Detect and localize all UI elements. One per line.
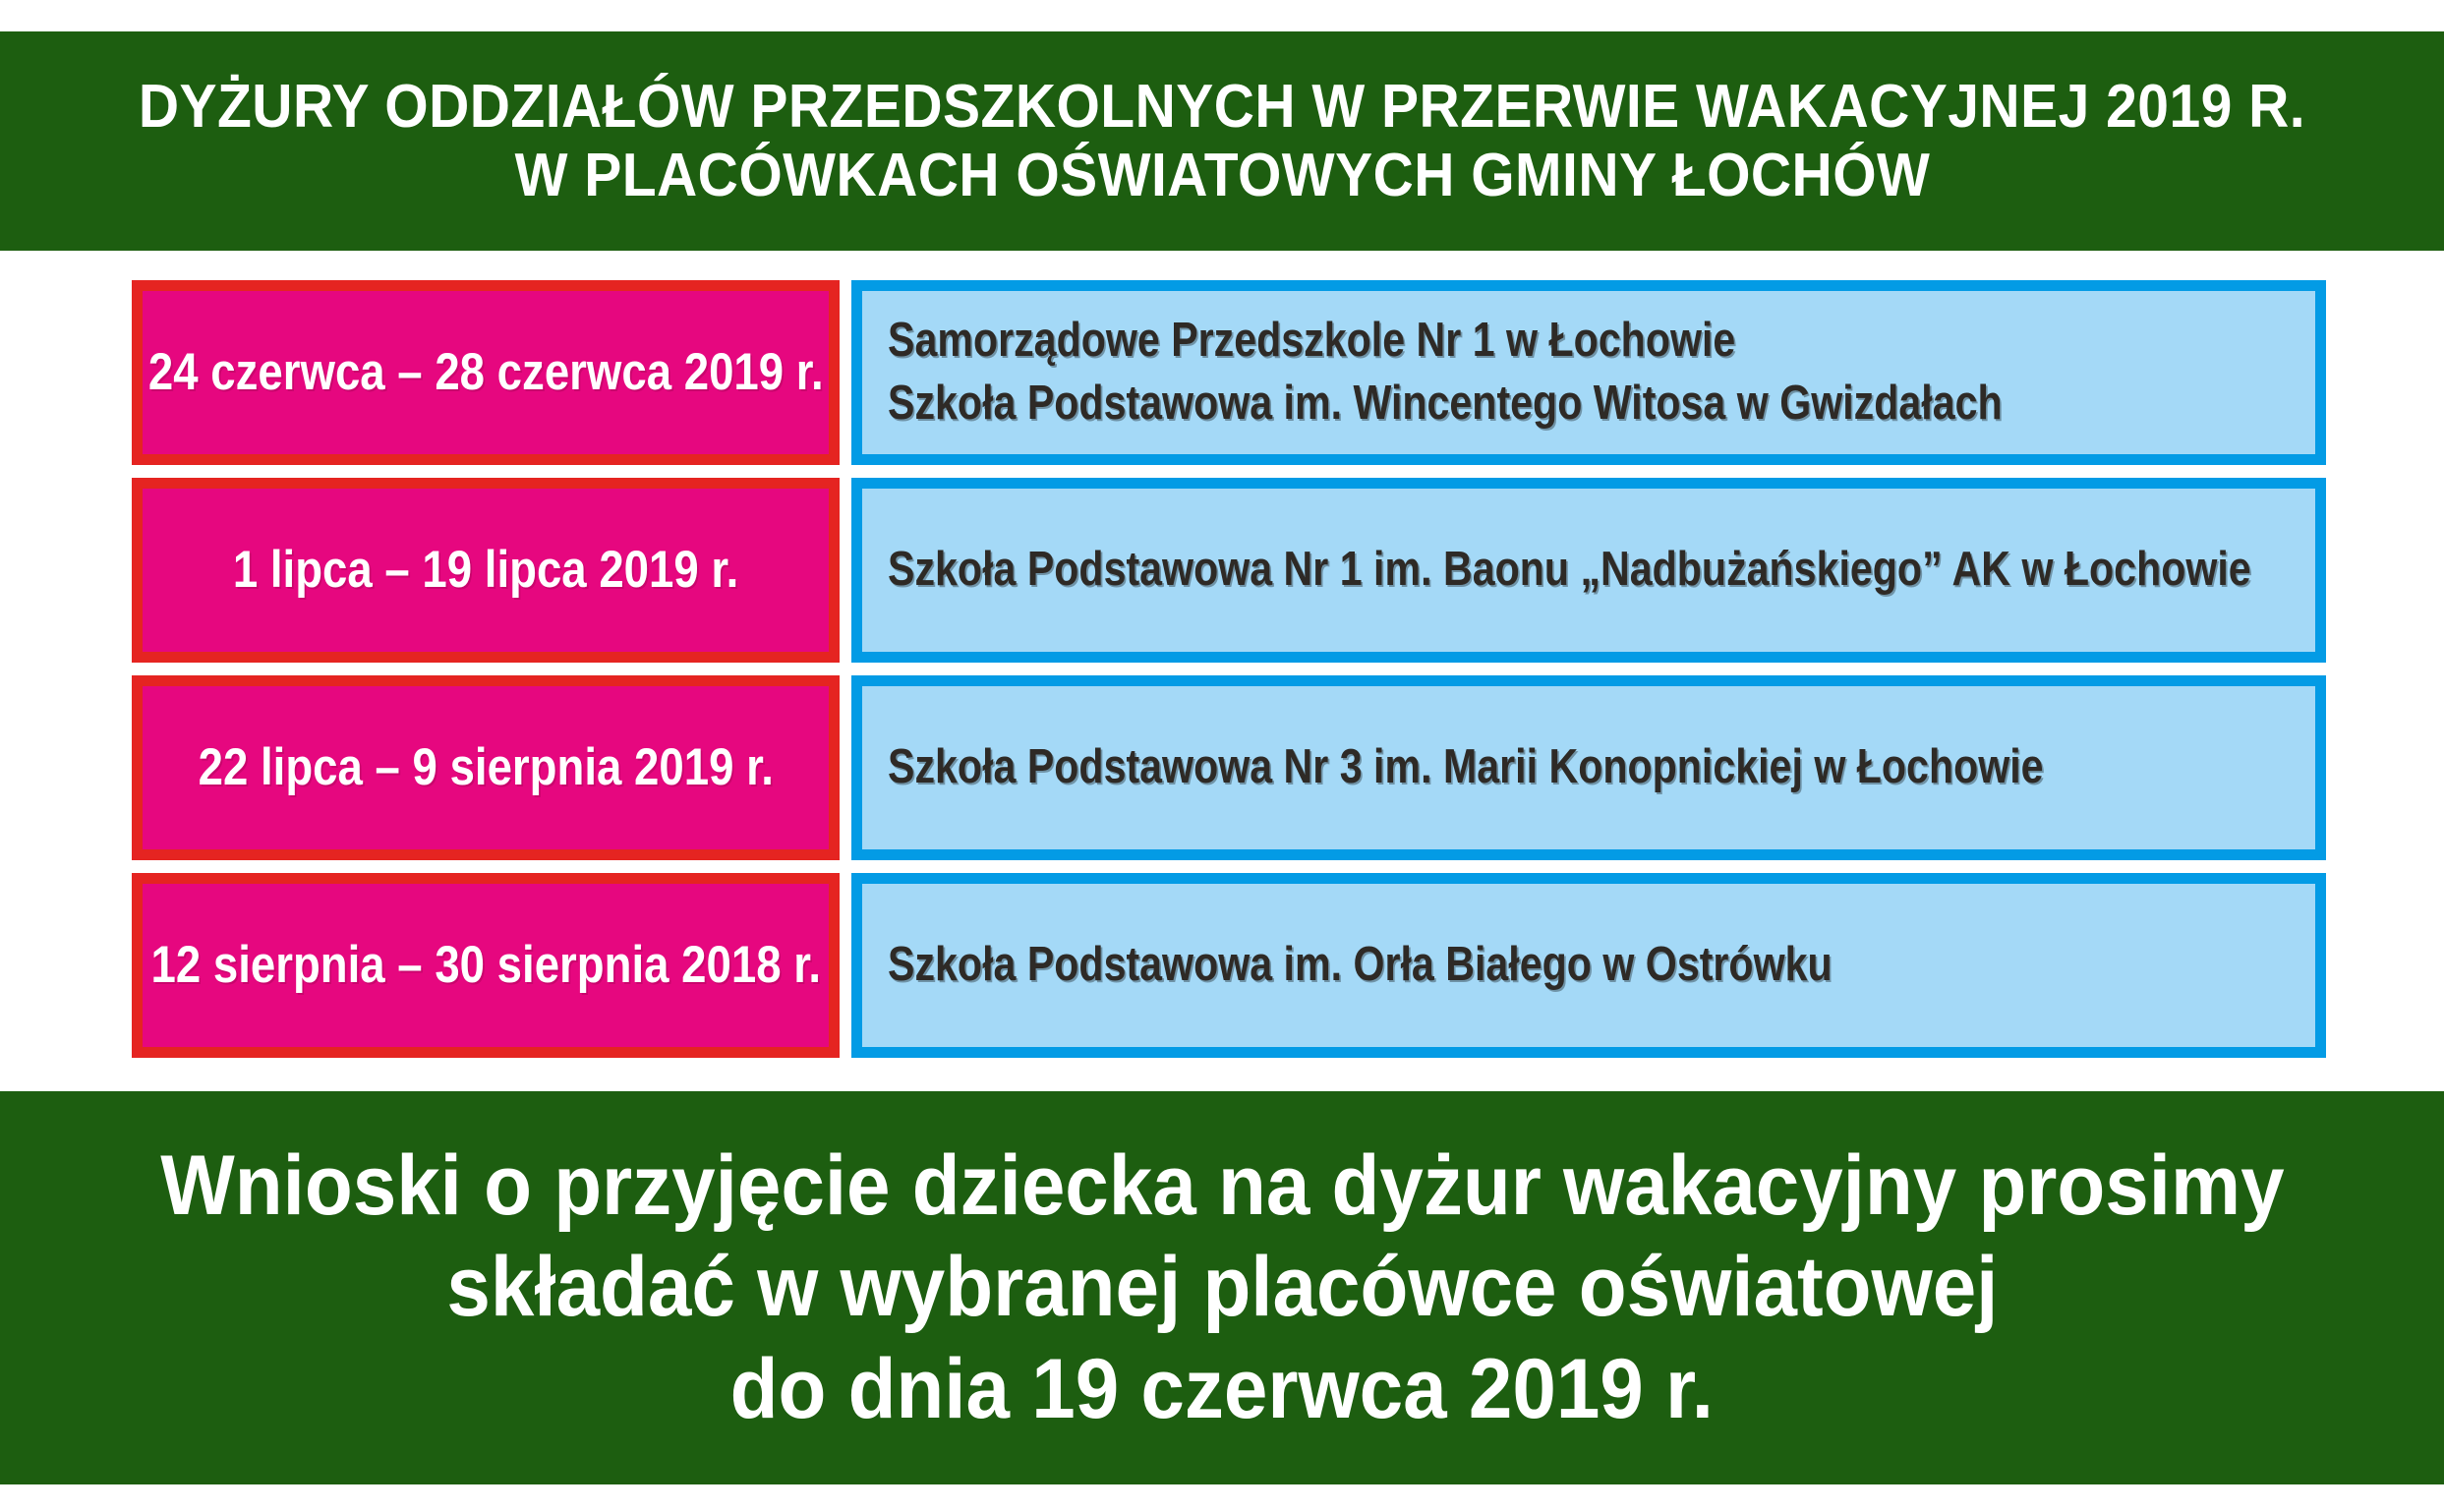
institution-cell: Szkoła Podstawowa Nr 1 im. Baonu „Nadbuż…	[851, 478, 2326, 663]
institution-cell-inner: Szkoła Podstawowa Nr 3 im. Marii Konopni…	[862, 686, 2315, 849]
footer-note-line-1: Wnioski o przyjęcie dziecka na dyżur wak…	[160, 1135, 2284, 1237]
date-range-text: 22 lipca – 9 sierpnia 2019 r.	[198, 740, 773, 795]
table-row: 24 czerwca – 28 czerwca 2019 r. Samorząd…	[0, 280, 2444, 465]
date-range-cell-inner: 24 czerwca – 28 czerwca 2019 r.	[143, 291, 829, 454]
table-row: 1 lipca – 19 lipca 2019 r. Szkoła Podsta…	[0, 478, 2444, 663]
date-range-cell: 22 lipca – 9 sierpnia 2019 r.	[132, 675, 840, 860]
date-range-cell-inner: 12 sierpnia – 30 sierpnia 2018 r.	[143, 884, 829, 1047]
date-range-cell-inner: 22 lipca – 9 sierpnia 2019 r.	[143, 686, 829, 849]
header-title-line-2: W PLACÓWKACH OŚWIATOWYCH GMINY ŁOCHÓW	[514, 142, 1930, 209]
institution-name: Szkoła Podstawowa Nr 1 im. Baonu „Nadbuż…	[888, 539, 2251, 602]
institution-name: Szkoła Podstawowa Nr 3 im. Marii Konopni…	[888, 736, 2044, 799]
institution-name: Szkoła Podstawowa im. Wincentego Witosa …	[888, 373, 2003, 436]
institution-cell-inner: Szkoła Podstawowa im. Orła Białego w Ost…	[862, 884, 2315, 1047]
header-title-line-1: DYŻURY ODDZIAŁÓW PRZEDSZKOLNYCH W PRZERW…	[139, 73, 2305, 141]
institution-cell-inner: Szkoła Podstawowa Nr 1 im. Baonu „Nadbuż…	[862, 489, 2315, 652]
date-range-cell: 12 sierpnia – 30 sierpnia 2018 r.	[132, 873, 840, 1058]
institution-cell: Szkoła Podstawowa im. Orła Białego w Ost…	[851, 873, 2326, 1058]
date-range-cell: 24 czerwca – 28 czerwca 2019 r.	[132, 280, 840, 465]
date-range-text: 12 sierpnia – 30 sierpnia 2018 r.	[150, 938, 821, 993]
institution-cell-inner: Samorządowe Przedszkole Nr 1 w Łochowie …	[862, 291, 2315, 454]
table-row: 22 lipca – 9 sierpnia 2019 r. Szkoła Pod…	[0, 675, 2444, 860]
date-range-text: 1 lipca – 19 lipca 2019 r.	[233, 543, 738, 598]
institution-name: Szkoła Podstawowa im. Orła Białego w Ost…	[888, 934, 1833, 997]
footer-note-line-2: składać w wybranej placówce oświatowej	[446, 1237, 1998, 1338]
footer-banner: Wnioski o przyjęcie dziecka na dyżur wak…	[0, 1091, 2444, 1484]
date-range-cell: 1 lipca – 19 lipca 2019 r.	[132, 478, 840, 663]
date-range-text: 24 czerwca – 28 czerwca 2019 r.	[148, 345, 824, 400]
footer-note-line-3: do dnia 19 czerwca 2019 r.	[730, 1339, 1714, 1440]
date-range-cell-inner: 1 lipca – 19 lipca 2019 r.	[143, 489, 829, 652]
institution-cell: Samorządowe Przedszkole Nr 1 w Łochowie …	[851, 280, 2326, 465]
institution-cell: Szkoła Podstawowa Nr 3 im. Marii Konopni…	[851, 675, 2326, 860]
schedule-table: 24 czerwca – 28 czerwca 2019 r. Samorząd…	[0, 267, 2444, 1072]
header-banner: DYŻURY ODDZIAŁÓW PRZEDSZKOLNYCH W PRZERW…	[0, 31, 2444, 251]
institution-name: Samorządowe Przedszkole Nr 1 w Łochowie	[888, 310, 1735, 373]
table-row: 12 sierpnia – 30 sierpnia 2018 r. Szkoła…	[0, 873, 2444, 1058]
